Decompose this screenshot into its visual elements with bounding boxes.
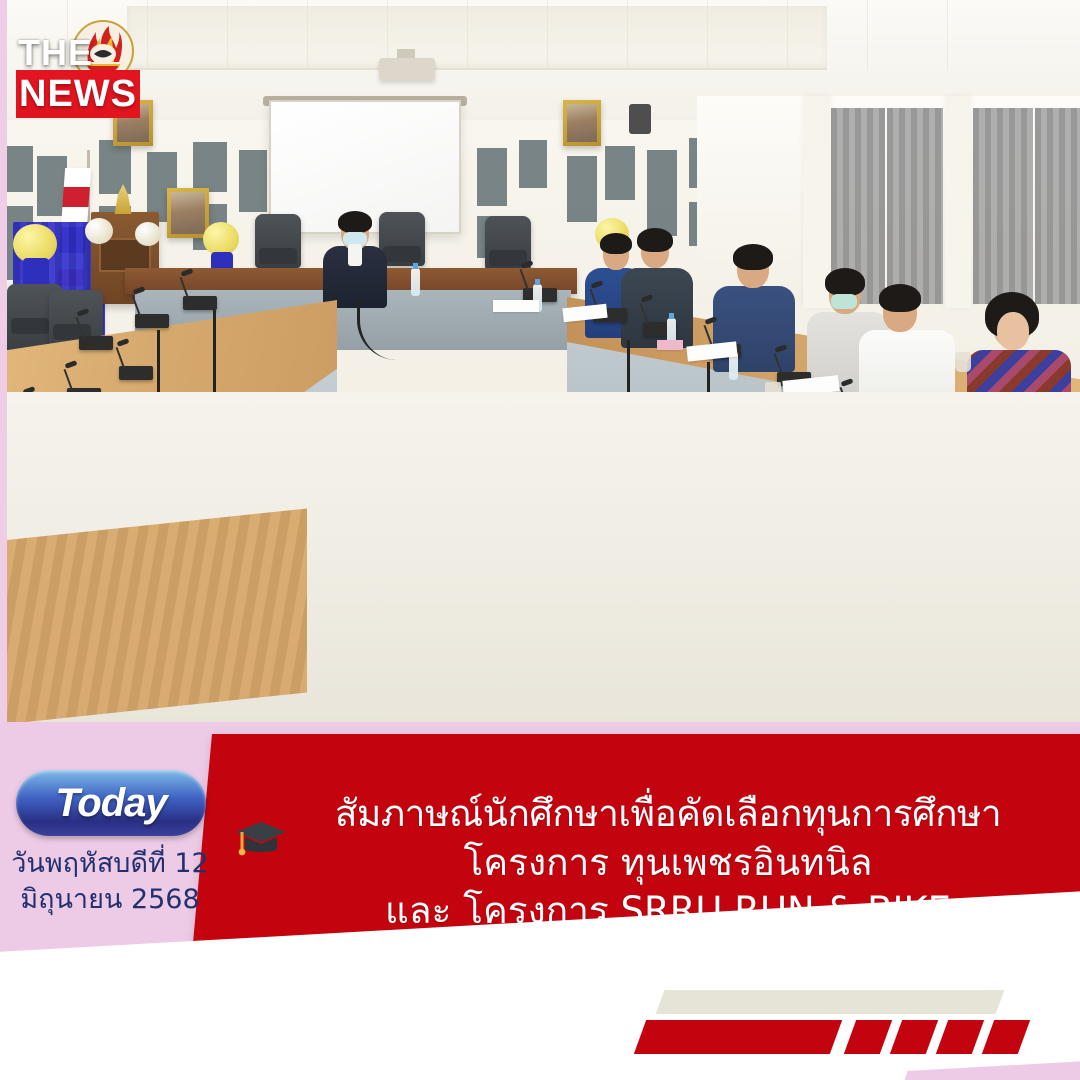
red-stripe bbox=[890, 1020, 938, 1054]
red-stripe bbox=[936, 1020, 984, 1054]
photo-frame: THE NEWS bbox=[0, 0, 1080, 724]
window-curtain bbox=[887, 108, 943, 304]
paper-cup bbox=[955, 352, 971, 372]
red-stripe bbox=[982, 1020, 1030, 1054]
date-line-1: วันพฤหัสบดีที่ 12 bbox=[10, 846, 210, 882]
date-text: วันพฤหัสบดีที่ 12 มิถุนายน 2568 bbox=[10, 846, 210, 917]
water-bottle bbox=[411, 268, 420, 296]
acoustic-panel bbox=[193, 142, 227, 192]
white-flower-bouquet bbox=[135, 222, 161, 246]
the-news-logo: THE NEWS bbox=[12, 14, 162, 114]
document-sheet bbox=[493, 300, 539, 312]
today-badge-label: Today bbox=[55, 781, 166, 826]
conference-microphone bbox=[119, 366, 153, 380]
ceiling-lines bbox=[7, 0, 1080, 70]
graduation-cap-icon bbox=[234, 818, 288, 860]
acoustic-panel bbox=[7, 146, 33, 192]
conference-microphone bbox=[79, 336, 113, 350]
wood-floor-strip bbox=[7, 508, 307, 722]
conference-chair bbox=[255, 214, 301, 268]
conference-microphone bbox=[135, 314, 169, 328]
window-curtain bbox=[973, 108, 1033, 304]
acoustic-panel bbox=[99, 140, 131, 194]
logo-the-text: THE bbox=[18, 32, 93, 74]
acoustic-panel bbox=[239, 150, 267, 212]
acoustic-panel bbox=[647, 150, 677, 236]
headline-line-2: โครงการ ทุนเพชรอินทนิล bbox=[298, 839, 1038, 888]
red-stripe-long bbox=[634, 1020, 842, 1054]
beige-stripe bbox=[656, 990, 1005, 1014]
acoustic-panel bbox=[567, 156, 597, 222]
logo-news-text: NEWS bbox=[19, 75, 137, 113]
red-stripe bbox=[844, 1020, 892, 1054]
acoustic-panel bbox=[477, 148, 507, 206]
conference-microphone bbox=[183, 296, 217, 310]
headline-line-1: สัมภาษณ์นักศึกษาเพื่อคัดเลือกทุนการศึกษา bbox=[298, 790, 1038, 839]
royal-portrait-framed bbox=[167, 188, 209, 238]
acoustic-panel bbox=[519, 140, 547, 188]
date-line-2: มิถุนายน 2568 bbox=[10, 882, 210, 918]
meeting-room-photo bbox=[7, 0, 1080, 722]
bottom-graphics: สัมภาษณ์นักศึกษาเพื่อคัดเลือกทุนการศึกษา… bbox=[0, 722, 1080, 1080]
logo-news-block: NEWS bbox=[16, 70, 140, 118]
bottom-stripe-group bbox=[0, 998, 1080, 1080]
window-curtain bbox=[1035, 108, 1080, 304]
acoustic-panel bbox=[605, 146, 635, 200]
yellow-flower-bouquet bbox=[203, 222, 239, 256]
poster-canvas: THE NEWS สัมภาษณ์นักศึกษาเพื่อคัดเลือกทุ… bbox=[0, 0, 1080, 1080]
royal-portrait bbox=[563, 100, 601, 146]
today-badge: Today bbox=[16, 770, 206, 836]
pink-pouch bbox=[657, 340, 683, 350]
white-flower-bouquet bbox=[85, 218, 113, 244]
ceiling-projector bbox=[379, 58, 435, 80]
wall-speaker bbox=[629, 104, 651, 134]
wall-pillar bbox=[945, 96, 971, 308]
